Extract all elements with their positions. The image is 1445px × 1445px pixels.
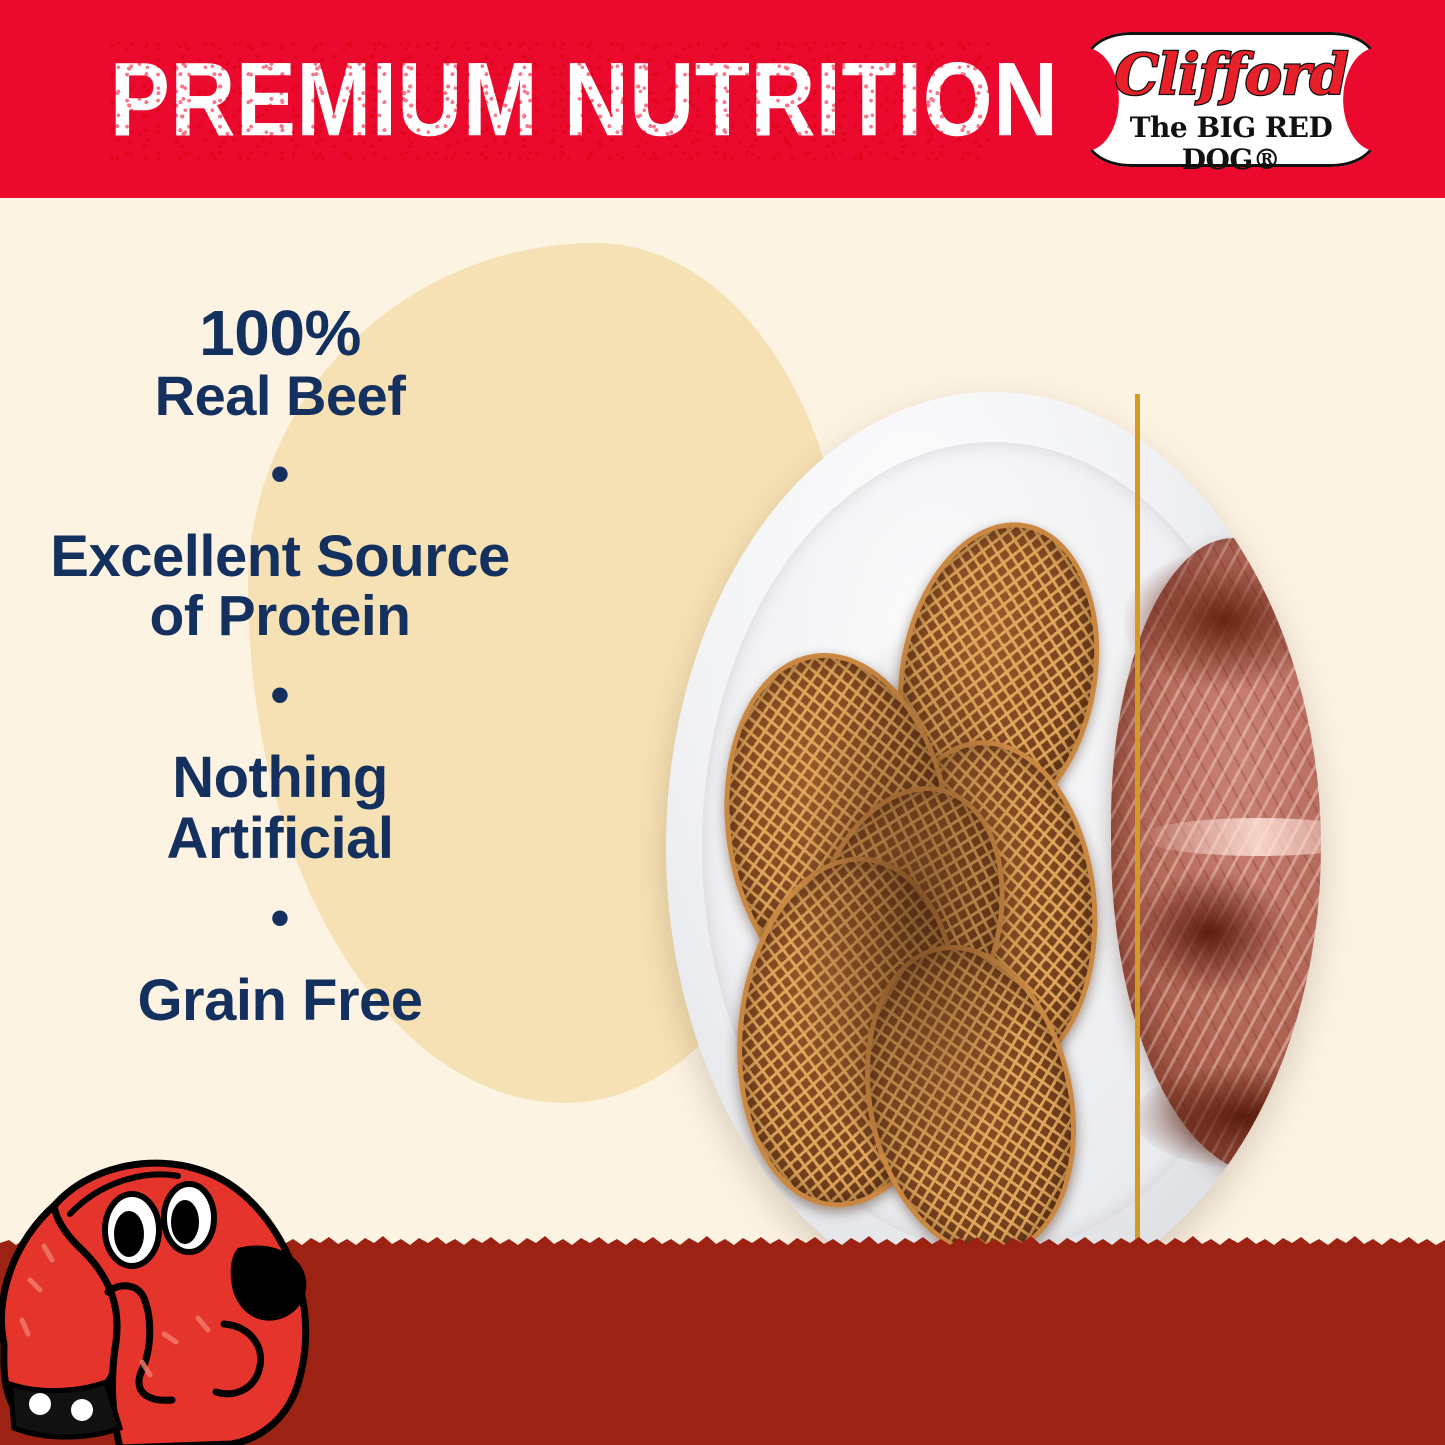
list-item: 100% Real Beef [0,300,560,425]
steak-fat-seam [1140,818,1321,856]
list-item: Nothing Artificial [0,748,560,869]
steak-sear-top [1123,550,1321,690]
bullet-separator-3: • [0,891,560,945]
benefits-list: 100% Real Beef • Excellent Source of Pro… [0,300,560,1031]
page-title: PREMIUM NUTRITION [110,40,867,160]
clifford-mascot-icon [0,1148,322,1445]
list-item: Excellent Source of Protein [0,527,560,647]
list-item: Grain Free [0,971,560,1031]
logo-tagline: The BIG RED DOG® [1085,112,1377,176]
clifford-logo: Clifford The BIG RED DOG® [1085,32,1377,167]
benefit-4-line-1: Grain Free [0,971,560,1031]
benefit-3-line-2: Artificial [0,809,560,869]
benefit-2-line-2: of Protein [0,587,560,646]
dog-treats-group [738,492,1144,1220]
product-comparison-photo [666,392,1321,1302]
gold-divider-line [1135,394,1140,1300]
promo-graphic: PREMIUM NUTRITION Clifford The BIG RED D… [0,0,1445,1445]
plate [666,392,1321,1302]
bullet-separator-1: • [0,447,560,501]
benefit-3-line-1: Nothing [0,748,560,808]
steak-sear-middle [1129,869,1290,996]
logo-brand-name: Clifford [1085,44,1377,106]
benefit-1-line-1: 100% [0,300,560,367]
benefit-2-line-1: Excellent Source [0,527,560,587]
bullet-separator-2: • [0,668,560,722]
benefit-1-line-2: Real Beef [0,367,560,425]
treats-shadow [787,623,1039,1162]
